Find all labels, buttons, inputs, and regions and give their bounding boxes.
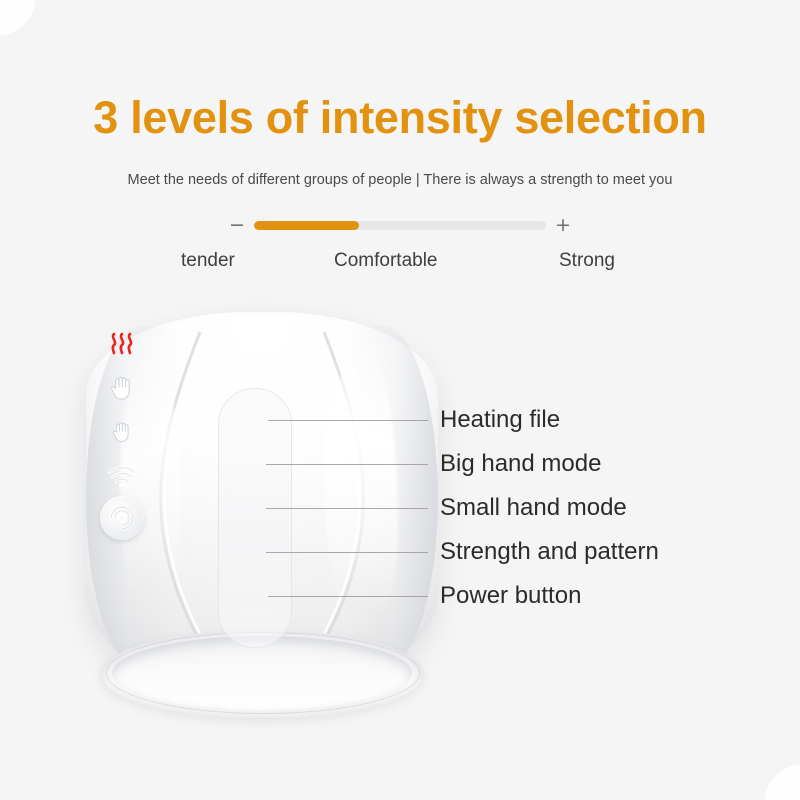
leader-line-power	[268, 596, 428, 597]
big-hand-icon	[109, 374, 135, 402]
small-hand-icon	[111, 420, 133, 444]
callout-power-button: Power button	[440, 582, 581, 610]
strength-pattern-button[interactable]	[86, 458, 158, 494]
slider-track[interactable]	[254, 221, 546, 230]
slider-scale-labels: tender Comfortable Strong	[0, 250, 800, 278]
plus-icon[interactable]: +	[554, 216, 572, 235]
card-corner-bottom-right	[764, 764, 800, 800]
page-title: 3 levels of intensity selection	[0, 92, 800, 144]
callout-heating-file: Heating file	[440, 406, 560, 434]
power-button[interactable]	[86, 500, 158, 536]
slider-label-comfortable: Comfortable	[334, 250, 438, 272]
leader-line-big-hand	[266, 464, 428, 465]
callout-big-hand-mode: Big hand mode	[440, 450, 601, 478]
leader-line-strength	[266, 552, 428, 553]
heating-button[interactable]	[86, 326, 158, 362]
leader-line-heating	[268, 420, 428, 421]
fingerprint-power-icon	[108, 504, 136, 532]
minus-icon[interactable]: −	[228, 216, 246, 235]
slider-label-strong: Strong	[559, 250, 615, 272]
control-panel	[218, 388, 292, 648]
callout-strength-and-pattern: Strength and pattern	[440, 538, 659, 566]
big-hand-mode-button[interactable]	[86, 370, 158, 406]
signal-waves-icon	[106, 464, 138, 488]
heat-waves-icon	[107, 331, 137, 357]
card-corner-top-left	[0, 0, 36, 36]
callout-small-hand-mode: Small hand mode	[440, 494, 627, 522]
slider-label-tender: tender	[181, 250, 235, 272]
intensity-slider[interactable]: − +	[0, 214, 800, 240]
page-subtitle: Meet the needs of different groups of pe…	[0, 172, 800, 188]
slider-fill	[254, 221, 359, 230]
leader-line-small-hand	[266, 508, 428, 509]
small-hand-mode-button[interactable]	[86, 414, 158, 450]
hand-massager-device	[86, 312, 438, 720]
infographic-page: 3 levels of intensity selection Meet the…	[0, 0, 800, 800]
